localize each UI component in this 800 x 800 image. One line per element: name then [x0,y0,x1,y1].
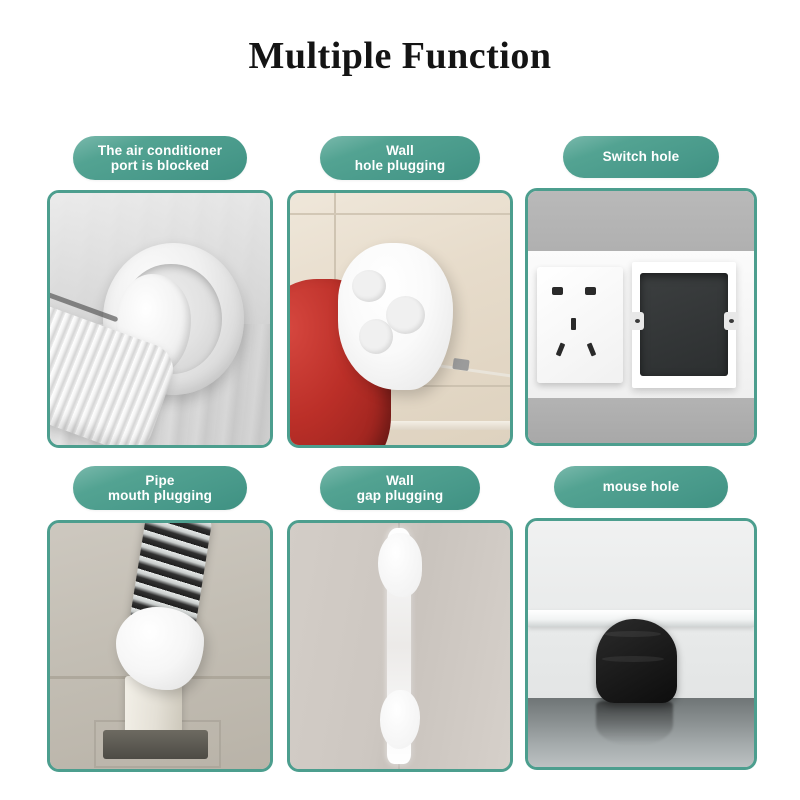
photo-switch-hole [528,191,754,443]
screw-tab-right [724,312,738,330]
wall-lower-band [528,398,754,443]
putty-blob-top [378,533,422,597]
feature-cell-mouse-hole: mouse hole [525,466,757,770]
photo-frame-pipe-mouth-plugging[interactable] [47,520,273,772]
label-line-2: hole plugging [355,158,445,173]
putty-lobe [352,270,386,302]
photo-frame-wall-gap-plugging[interactable] [287,520,513,772]
floor-reflection [596,701,673,745]
socket-pin-slot [586,343,596,357]
screw-head-icon [729,319,734,323]
label-line-1: The air conditioner [98,143,222,158]
screw-tab-left [630,312,644,330]
label-line-1: Wall [355,143,445,158]
feature-cell-wall-gap-plugging: Wall gap plugging [287,466,513,772]
label-line-2: port is blocked [98,158,222,173]
photo-mouse-hole [528,521,754,767]
photo-pipe-mouth-plugging [50,523,270,769]
page-title: Multiple Function [0,34,800,78]
putty-lobe [359,319,393,354]
label-line-2: mouth plugging [108,488,212,503]
mortar-base [103,730,209,760]
label-line-1: Pipe [108,473,212,488]
spacer [287,180,513,190]
spacer [47,510,273,520]
photo-wall-hole-plugging [290,193,510,445]
label-line-1: mouse hole [593,479,690,494]
label-pill-wall-gap-plugging: Wall gap plugging [320,466,480,510]
switch-box-plate [632,262,736,388]
switch-box-cavity [640,273,727,376]
label-pill-wall-hole-plugging: Wall hole plugging [320,136,480,180]
photo-frame-air-conditioner-port[interactable] [47,190,273,448]
spacer [287,510,513,520]
socket-pin-slot [552,287,563,295]
grout-line-horizontal [290,213,510,215]
feature-cell-switch-hole: Switch hole [525,136,757,446]
putty-ridge [604,631,661,637]
feature-cell-wall-hole-plugging: Wall hole plugging [287,136,513,448]
feature-cell-pipe-mouth-plugging: Pipe mouth plugging [47,466,273,772]
photo-frame-mouse-hole[interactable] [525,518,757,770]
feature-cell-air-conditioner-port: The air conditioner port is blocked [47,136,273,448]
power-socket [537,267,623,383]
photo-frame-switch-hole[interactable] [525,188,757,446]
photo-frame-wall-hole-plugging[interactable] [287,190,513,448]
socket-pin-slot [555,343,565,357]
photo-wall-gap-plugging [290,523,510,769]
label-pill-pipe-mouth-plugging: Pipe mouth plugging [73,466,247,510]
feature-grid: The air conditioner port is blocked [47,136,753,786]
label-line-1: Wall [357,473,444,488]
label-line-1: Switch hole [593,149,690,164]
black-putty-plug [596,619,677,703]
label-pill-air-conditioner-port: The air conditioner port is blocked [73,136,247,180]
label-line-2: gap plugging [357,488,444,503]
screw-head-icon [635,319,640,323]
label-pill-mouse-hole: mouse hole [554,466,728,508]
infographic-page: Multiple Function The air conditioner po… [0,0,800,800]
spacer [525,178,757,188]
photo-air-conditioner-port [50,193,270,445]
label-pill-switch-hole: Switch hole [563,136,719,178]
putty-seal [338,243,452,389]
socket-pin-slot [585,287,596,295]
putty-ridge [602,656,664,662]
putty-lobe [386,296,425,334]
socket-earth-slot [571,318,576,330]
spacer [525,508,757,518]
wall-upper-band [528,191,754,251]
spacer [47,180,273,190]
